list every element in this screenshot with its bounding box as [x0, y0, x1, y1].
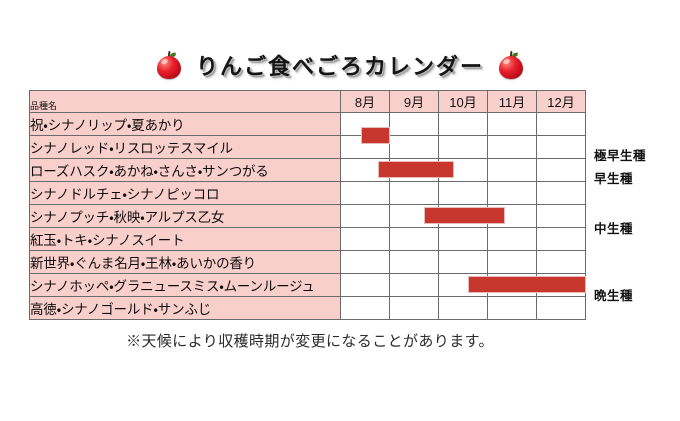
- table-row: 紅玉・トキ・シナノスイート: [30, 228, 586, 251]
- table-row: シナノプッチ・秋映・アルプス乙女: [30, 205, 586, 228]
- month-cell-9: [390, 113, 439, 136]
- month-cell-12: [537, 159, 586, 182]
- apple-body: [499, 56, 523, 79]
- month-cell-8: [341, 159, 390, 182]
- month-cell-12: [537, 228, 586, 251]
- month-cell-11: [488, 251, 537, 274]
- variety-name-cell: シナノドルチェ・シナノピッコロ: [30, 182, 341, 205]
- page-title-bar: りんご食べごろカレンダー: [0, 44, 680, 86]
- month-cell-9: [390, 251, 439, 274]
- month-cell-11: [488, 113, 537, 136]
- month-cell-8: [341, 205, 390, 228]
- month-cell-9: [390, 205, 439, 228]
- variety-name-cell: 紅玉・トキ・シナノスイート: [30, 228, 341, 251]
- variety-name-cell: シナノホッペ・グラニュースミス・ムーンルージュ: [30, 274, 341, 297]
- month-cell-10: [439, 136, 488, 159]
- month-cell-9: [390, 182, 439, 205]
- column-header-month-11: 11月: [488, 91, 537, 113]
- month-cell-10: [439, 113, 488, 136]
- month-cell-10: [439, 297, 488, 320]
- month-cell-9: [390, 228, 439, 251]
- month-cell-11: [488, 274, 537, 297]
- month-cell-11: [488, 136, 537, 159]
- variety-name-cell: シナノプッチ・秋映・アルプス乙女: [30, 205, 341, 228]
- variety-name-cell: 新世界・ぐんま名月・王林・あいかの香り: [30, 251, 341, 274]
- harvest-calendar-table: 品種名 8月 9月 10月 11月 12月 祝・シナノリップ・夏あかり シナノレ…: [29, 90, 586, 320]
- table-row: 祝・シナノリップ・夏あかり: [30, 113, 586, 136]
- season-label-early: 早生種: [594, 168, 633, 187]
- table-row: 高徳・シナノゴールド・サンふじ: [30, 297, 586, 320]
- month-cell-8: [341, 228, 390, 251]
- variety-name-cell: 祝・シナノリップ・夏あかり: [30, 113, 341, 136]
- month-cell-11: [488, 205, 537, 228]
- month-cell-12: [537, 205, 586, 228]
- apple-icon-left: [156, 51, 182, 79]
- apple-icon-right: [498, 51, 524, 79]
- table-header: 品種名 8月 9月 10月 11月 12月: [30, 91, 586, 113]
- season-label-column: 極早生種 早生種 中生種 晩生種: [594, 90, 680, 320]
- month-cell-12: [537, 274, 586, 297]
- column-header-month-10: 10月: [439, 91, 488, 113]
- month-cell-9: [390, 297, 439, 320]
- month-cell-8: [341, 113, 390, 136]
- table-row: ローズハスク・あかね・さんさ・サンつがる: [30, 159, 586, 182]
- month-cell-12: [537, 182, 586, 205]
- month-cell-10: [439, 205, 488, 228]
- variety-name-cell: シナノレッド・リスロッテスマイル: [30, 136, 341, 159]
- month-cell-9: [390, 159, 439, 182]
- column-header-month-12: 12月: [537, 91, 586, 113]
- month-cell-12: [537, 251, 586, 274]
- table-body: 祝・シナノリップ・夏あかり シナノレッド・リスロッテスマイル ローズハスク・あか…: [30, 113, 586, 320]
- apple-body: [157, 56, 181, 79]
- variety-name-cell: 高徳・シナノゴールド・サンふじ: [30, 297, 341, 320]
- month-cell-9: [390, 136, 439, 159]
- month-cell-9: [390, 274, 439, 297]
- month-cell-8: [341, 136, 390, 159]
- table-header-row: 品種名 8月 9月 10月 11月 12月: [30, 91, 586, 113]
- table-row: シナノホッペ・グラニュースミス・ムーンルージュ: [30, 274, 586, 297]
- page-title: りんご食べごろカレンダー: [196, 49, 484, 81]
- season-label-mid: 中生種: [594, 218, 633, 237]
- footnote-text: ※天候により収穫時期が変更になることがあります。: [0, 330, 620, 351]
- variety-name-cell: ローズハスク・あかね・さんさ・サンつがる: [30, 159, 341, 182]
- column-header-month-9: 9月: [390, 91, 439, 113]
- table-row: 新世界・ぐんま名月・王林・あいかの香り: [30, 251, 586, 274]
- month-cell-8: [341, 182, 390, 205]
- column-header-variety: 品種名: [30, 91, 341, 113]
- column-header-month-8: 8月: [341, 91, 390, 113]
- month-cell-12: [537, 113, 586, 136]
- month-cell-10: [439, 274, 488, 297]
- season-label-late: 晩生種: [594, 285, 633, 304]
- month-cell-10: [439, 251, 488, 274]
- month-cell-10: [439, 228, 488, 251]
- table-row: シナノドルチェ・シナノピッコロ: [30, 182, 586, 205]
- month-cell-11: [488, 182, 537, 205]
- table-row: シナノレッド・リスロッテスマイル: [30, 136, 586, 159]
- month-cell-10: [439, 182, 488, 205]
- month-cell-10: [439, 159, 488, 182]
- month-cell-12: [537, 297, 586, 320]
- month-cell-8: [341, 274, 390, 297]
- month-cell-11: [488, 159, 537, 182]
- month-cell-11: [488, 297, 537, 320]
- season-label-very-early: 極早生種: [594, 145, 646, 164]
- month-cell-8: [341, 297, 390, 320]
- month-cell-8: [341, 251, 390, 274]
- month-cell-11: [488, 228, 537, 251]
- month-cell-12: [537, 136, 586, 159]
